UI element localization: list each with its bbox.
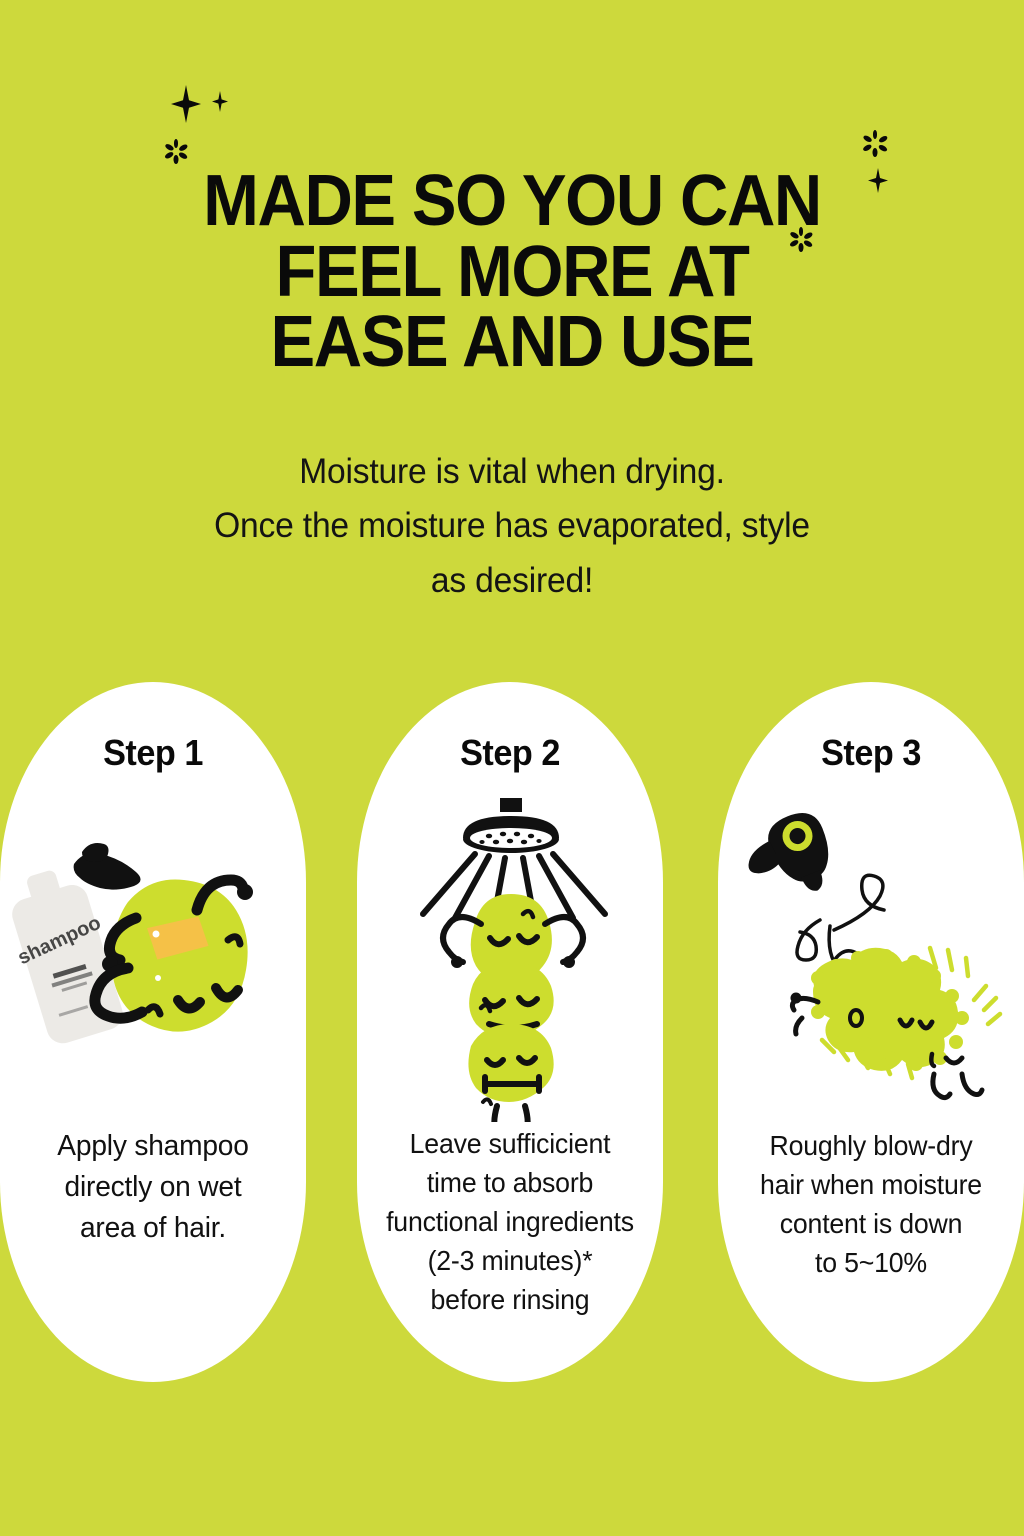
hero-section: MADE SO YOU CAN FEEL MORE AT EASE AND US…	[0, 0, 1024, 672]
subtitle-line-3: as desired!	[20, 554, 1003, 608]
step-2-line-2: time to absorb	[362, 1163, 659, 1202]
headline-line-3: EASE AND USE	[36, 307, 988, 378]
headline-line-1: MADE SO YOU CAN	[36, 166, 988, 237]
step-card-1: Step 1 shampoo	[0, 682, 306, 1382]
steps-row: Step 1 shampoo	[0, 682, 1024, 1382]
step-1-title: Step 1	[8, 732, 299, 774]
sparkle-star-large-icon	[171, 85, 201, 123]
step-2-title: Step 2	[365, 732, 656, 774]
sparkle-burst-right-upper-icon	[860, 128, 890, 158]
step-3-line-2: hair when moisture	[723, 1165, 1020, 1204]
step-3-line-1: Roughly blow-dry	[723, 1126, 1020, 1165]
step-1-line-2: directly on wet	[5, 1167, 302, 1208]
step-3-line-3: content is down	[723, 1204, 1020, 1243]
page-title: MADE SO YOU CAN FEEL MORE AT EASE AND US…	[36, 166, 988, 378]
hero-subtitle: Moisture is vital when drying. Once the …	[20, 445, 1003, 608]
step-2-illustration	[357, 792, 663, 1122]
sparkle-star-small-icon	[212, 91, 228, 112]
step-2-line-1: Leave sufficicient	[362, 1124, 659, 1163]
step-card-2: Step 2	[357, 682, 663, 1382]
step-3-illustration	[718, 792, 1024, 1122]
step-1-illustration: shampoo	[0, 792, 306, 1122]
step-1-line-3: area of hair.	[5, 1208, 302, 1249]
step-2-line-4: (2-3 minutes)*	[362, 1241, 659, 1280]
step-1-description: Apply shampoo directly on wet area of ha…	[5, 1126, 302, 1250]
step-3-title: Step 3	[726, 732, 1017, 774]
sparkle-burst-left-icon	[163, 138, 189, 164]
headline-line-2: FEEL MORE AT	[36, 237, 988, 308]
step-2-line-5: before rinsing	[362, 1280, 659, 1319]
step-3-line-4: to 5~10%	[723, 1243, 1020, 1282]
step-3-description: Roughly blow-dry hair when moisture cont…	[723, 1126, 1020, 1282]
step-card-3: Step 3	[718, 682, 1024, 1382]
step-1-line-1: Apply shampoo	[5, 1126, 302, 1167]
step-2-line-3: functional ingredients	[362, 1202, 659, 1241]
subtitle-line-1: Moisture is vital when drying.	[20, 445, 1003, 499]
step-2-description: Leave sufficicient time to absorb functi…	[362, 1124, 659, 1319]
subtitle-line-2: Once the moisture has evaporated, style	[20, 499, 1003, 553]
